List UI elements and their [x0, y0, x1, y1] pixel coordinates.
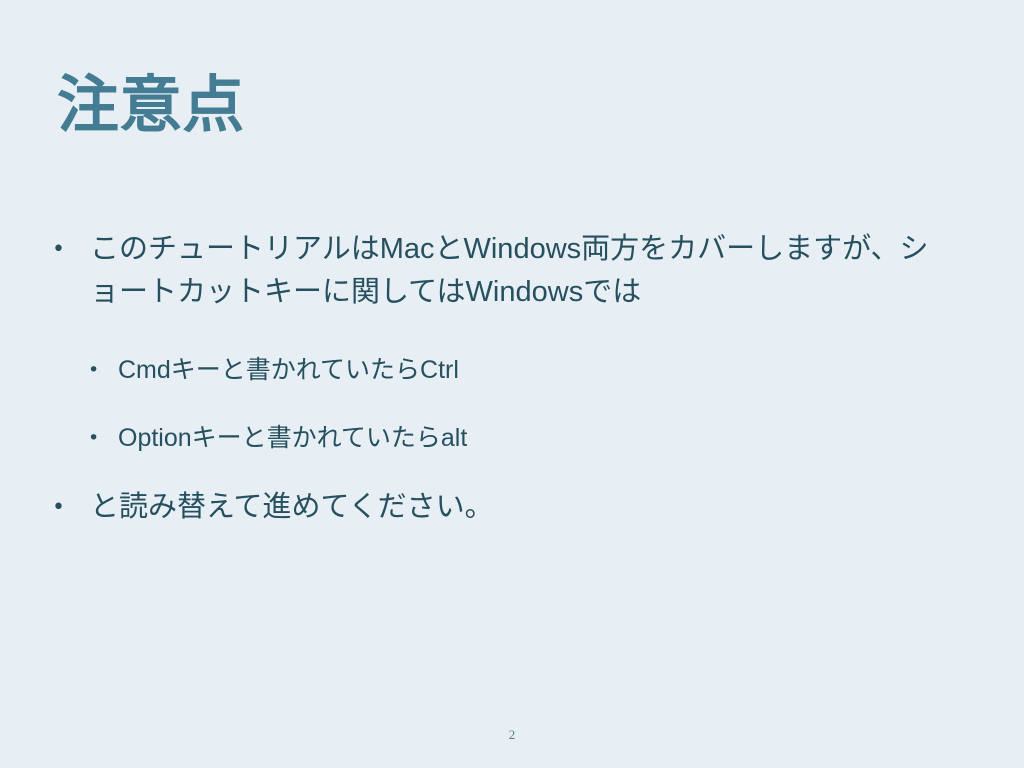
list-item: • このチュートリアルはMacとWindows両方をカバーしますが、ショートカッ… [52, 228, 952, 314]
list-spacer [52, 330, 952, 350]
list-item: • Optionキーと書かれていたらalt [88, 418, 952, 458]
slide-body: • このチュートリアルはMacとWindows両方をカバーしますが、ショートカッ… [52, 228, 952, 545]
bullet-icon: • [52, 486, 90, 529]
list-item-label: Optionキーと書かれていたらalt [118, 418, 952, 458]
list-item-label: このチュートリアルはMacとWindows両方をカバーしますが、ショートカットキ… [90, 228, 930, 314]
list-item-label: Cmdキーと書かれていたらCtrl [118, 350, 952, 390]
list-item-label: と読み替えて進めてください。 [90, 486, 930, 529]
page-title: 注意点 [57, 70, 245, 141]
slide: 注意点 • このチュートリアルはMacとWindows両方をカバーしますが、ショ… [0, 0, 1024, 768]
page-number: 2 [0, 727, 1024, 743]
bullet-icon: • [52, 228, 90, 271]
list-item: • Cmdキーと書かれていたらCtrl [88, 350, 952, 390]
list-spacer [52, 404, 952, 418]
bullet-icon: • [88, 418, 118, 458]
bullet-icon: • [88, 350, 118, 390]
list-item: • と読み替えて進めてください。 [52, 486, 952, 529]
list-spacer [52, 472, 952, 486]
